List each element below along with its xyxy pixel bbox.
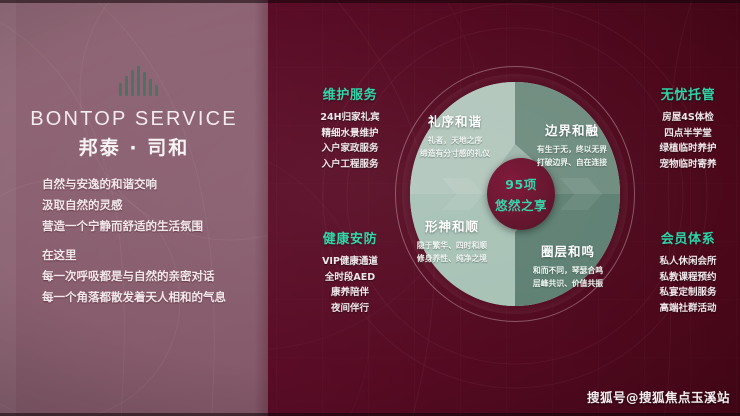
service-item: 房屋4S体检	[634, 110, 740, 126]
brand-name-cn: 邦泰 · 司和	[0, 133, 268, 160]
copy-line: 汲取自然的灵感	[42, 195, 257, 216]
service-item: 康养陪伴	[296, 285, 404, 301]
service-group-title: 维护服务	[296, 84, 404, 103]
copy-line: 自然与安逸的和谐交响	[42, 174, 257, 195]
quadrant-line: 打破边界、自在连接	[518, 156, 626, 169]
copy-line: 营造一个宁静而舒适的生活氛围	[42, 216, 257, 237]
service-item: 入户工程服务	[296, 157, 404, 173]
quadrant-top-right: 边界和融 有生于无，终以无界 打破边界、自在连接	[518, 120, 626, 169]
quadrant-line: 层峰共识、价值共振	[514, 277, 622, 290]
service-group-title: 无忧托管	[634, 84, 740, 103]
copy-spacer	[42, 237, 257, 245]
service-item: 入户家政服务	[296, 141, 404, 157]
brand-copy: 自然与安逸的和谐交响 汲取自然的灵感 营造一个宁静而舒适的生活氛围 在这里 每一…	[42, 174, 257, 308]
copy-line: 在这里	[42, 245, 257, 266]
service-group-membership: 会员体系 私人休闲会所 私教课程预约 私宴定制服务 高端社群活动	[634, 228, 740, 316]
service-item: 夜间伴行	[296, 301, 404, 317]
quadrant-line: 有生于无，终以无界	[518, 143, 626, 156]
core-count: 95项	[505, 174, 536, 193]
quadrant-line: 和而不同，琴瑟合鸣	[514, 264, 622, 277]
central-circle-diagram: 95项 悠然之享 礼序和谐 礼者，天地之序 缔造有分寸感的礼仪 边界和融 有生于…	[392, 63, 638, 325]
service-group-title: 会员体系	[634, 228, 740, 247]
service-item: 绿植临时养护	[634, 141, 740, 157]
service-item: 全时段AED	[296, 270, 404, 286]
service-item: 私教课程预约	[634, 270, 740, 286]
service-item: 四点半学堂	[634, 126, 740, 142]
service-item: VIP健康通道	[296, 254, 404, 270]
quadrant-bottom-left: 形神和顺 隐于繁华、四时和顺 修身养性、纯净之境	[398, 216, 506, 265]
service-item: 私宴定制服务	[634, 285, 740, 301]
quadrant-line: 隐于繁华、四时和顺	[398, 239, 506, 252]
service-item: 24H归家礼宾	[296, 110, 404, 126]
watermark-text: 搜狐号@搜狐焦点玉溪站	[587, 387, 730, 406]
service-group-health: 健康安防 VIP健康通道 全时段AED 康养陪伴 夜间伴行	[296, 228, 404, 316]
copy-line: 每一个角落都散发着天人相和的气息	[42, 287, 257, 308]
equalizer-bars-icon	[119, 66, 159, 96]
core-label: 悠然之享	[495, 195, 547, 214]
service-group-maintenance: 维护服务 24H归家礼宾 精细水景维护 入户家政服务 入户工程服务	[296, 84, 404, 172]
brand-name-en: BONTOP SERVICE	[0, 108, 268, 131]
service-item: 宠物临时寄养	[634, 157, 740, 173]
quadrant-line: 缔造有分寸感的礼仪	[401, 147, 509, 160]
copy-line: 每一次呼吸都是与自然的亲密对话	[42, 266, 257, 287]
top-letterbox-edge	[0, 0, 740, 3]
service-item: 私人休闲会所	[634, 254, 740, 270]
quadrant-bottom-right: 圈层和鸣 和而不同，琴瑟合鸣 层峰共识、价值共振	[514, 241, 622, 290]
quadrant-top-left: 礼序和谐 礼者，天地之序 缔造有分寸感的礼仪	[401, 111, 509, 160]
quadrant-title: 圈层和鸣	[514, 241, 622, 260]
quadrant-title: 礼序和谐	[401, 111, 509, 130]
left-brand-panel: BONTOP SERVICE 邦泰 · 司和 自然与安逸的和谐交响 汲取自然的灵…	[0, 0, 268, 416]
service-item: 精细水景维护	[296, 126, 404, 142]
quadrant-line: 礼者，天地之序	[401, 134, 509, 147]
left-panel-edge-band	[0, 0, 16, 416]
service-group-title: 健康安防	[296, 228, 404, 247]
quadrant-line: 修身养性、纯净之境	[398, 252, 506, 265]
quadrant-title: 边界和融	[518, 120, 626, 139]
service-item: 高端社群活动	[634, 301, 740, 317]
slide-canvas: BONTOP SERVICE 邦泰 · 司和 自然与安逸的和谐交响 汲取自然的灵…	[0, 0, 740, 416]
service-group-trusteeship: 无忧托管 房屋4S体检 四点半学堂 绿植临时养护 宠物临时寄养	[634, 84, 740, 172]
quadrant-title: 形神和顺	[398, 216, 506, 235]
